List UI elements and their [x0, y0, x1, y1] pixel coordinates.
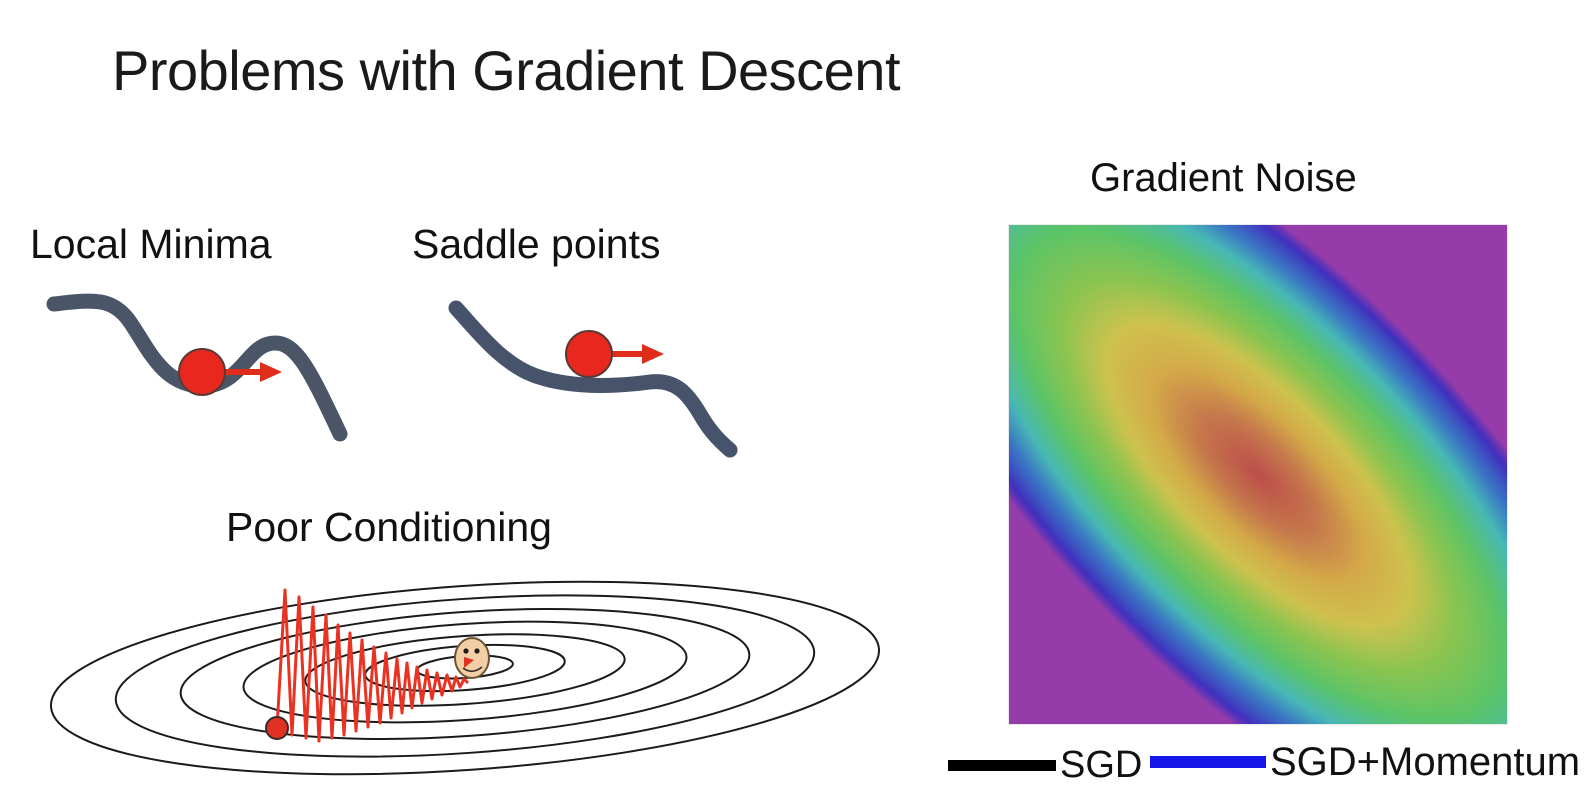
heading-gradient-noise: Gradient Noise: [1090, 156, 1357, 200]
legend-swatch-sgd-momentum-icon: [1150, 756, 1266, 768]
legend-item-sgd-momentum: SGD+Momentum: [1150, 742, 1580, 782]
chart-legend: SGD SGD+Momentum: [940, 742, 1586, 802]
saddle-curve: [456, 308, 730, 450]
legend-label-sgd-momentum: SGD+Momentum: [1270, 742, 1580, 782]
legend-item-sgd: SGD: [948, 746, 1142, 784]
saddle-arrow-head: [642, 344, 664, 364]
legend-swatch-sgd-icon: [948, 760, 1056, 771]
page-title: Problems with Gradient Descent: [112, 40, 900, 102]
local-minima-arrow-head: [260, 362, 282, 382]
poor-conditioning-diagram: [35, 575, 895, 780]
smiley-face-icon: [455, 638, 489, 678]
slide-canvas: Problems with Gradient Descent Local Min…: [0, 0, 1586, 810]
gradient-noise-heatmap: [1008, 224, 1508, 725]
saddle-point-diagram: [450, 290, 750, 460]
start-point-marker: [266, 717, 288, 739]
local-minima-diagram: [50, 280, 370, 455]
heading-saddle-points: Saddle points: [412, 222, 660, 267]
saddle-ball: [566, 331, 612, 377]
optimization-zigzag-path: [277, 590, 468, 741]
heading-local-minima: Local Minima: [30, 222, 272, 267]
gradient-noise-figure: [1008, 224, 1508, 725]
heading-poor-conditioning: Poor Conditioning: [226, 505, 552, 550]
local-minima-ball: [179, 349, 225, 395]
legend-label-sgd: SGD: [1060, 746, 1142, 784]
